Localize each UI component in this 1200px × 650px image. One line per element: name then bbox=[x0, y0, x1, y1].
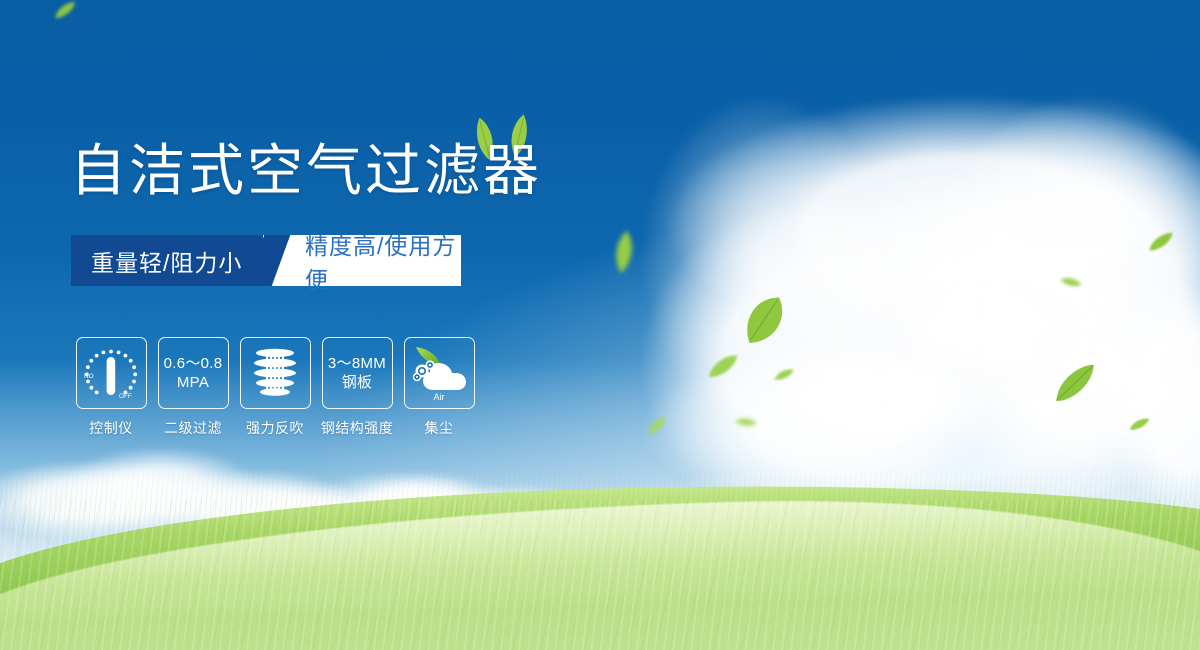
air-cloud-icon: Air bbox=[404, 337, 475, 409]
feature-label: 集尘 bbox=[425, 418, 454, 438]
tagline-left: 重量轻/阻力小 bbox=[71, 235, 263, 286]
pressure-unit: MPA bbox=[164, 373, 223, 392]
product-banner: 自洁式空气过滤器 重量轻/阻力小 精度高/使用方便 bbox=[0, 0, 1200, 650]
page-title: 自洁式空气过滤器 bbox=[70, 143, 542, 199]
dial-right-label: OFF bbox=[119, 393, 132, 400]
pressure-range: 0.6～0.8 bbox=[164, 354, 223, 373]
feature-list: NO OFF 控制仪 0.6～0.8 MPA 二级过滤 bbox=[70, 337, 480, 438]
filter-coil-icon bbox=[240, 337, 311, 409]
feature-item[interactable]: Air 集尘 bbox=[398, 337, 480, 438]
feature-label: 钢结构强度 bbox=[321, 418, 394, 438]
pressure-text-icon: 0.6～0.8 MPA bbox=[158, 337, 229, 409]
grass-sheen bbox=[0, 500, 1200, 650]
feature-item[interactable]: 0.6～0.8 MPA 二级过滤 bbox=[152, 337, 234, 438]
feature-item[interactable]: NO OFF 控制仪 bbox=[70, 337, 152, 438]
dial-left-label: NO bbox=[84, 373, 94, 380]
feature-item[interactable]: 强力反吹 bbox=[234, 337, 316, 438]
feature-label: 强力反吹 bbox=[246, 418, 304, 438]
steel-material: 钢板 bbox=[328, 373, 386, 392]
tagline-badge: 重量轻/阻力小 精度高/使用方便 bbox=[71, 235, 461, 286]
feature-label: 二级过滤 bbox=[164, 418, 222, 438]
dial-gauge-icon: NO OFF bbox=[76, 337, 147, 409]
air-caption: Air bbox=[434, 392, 445, 402]
tagline-right: 精度高/使用方便 bbox=[263, 235, 461, 286]
steel-thickness: 3～8MM bbox=[328, 354, 386, 373]
feature-item[interactable]: 3～8MM 钢板 钢结构强度 bbox=[316, 337, 398, 438]
cloud-puff bbox=[880, 250, 1080, 390]
feature-label: 控制仪 bbox=[89, 418, 133, 438]
steel-plate-text-icon: 3～8MM 钢板 bbox=[322, 337, 393, 409]
